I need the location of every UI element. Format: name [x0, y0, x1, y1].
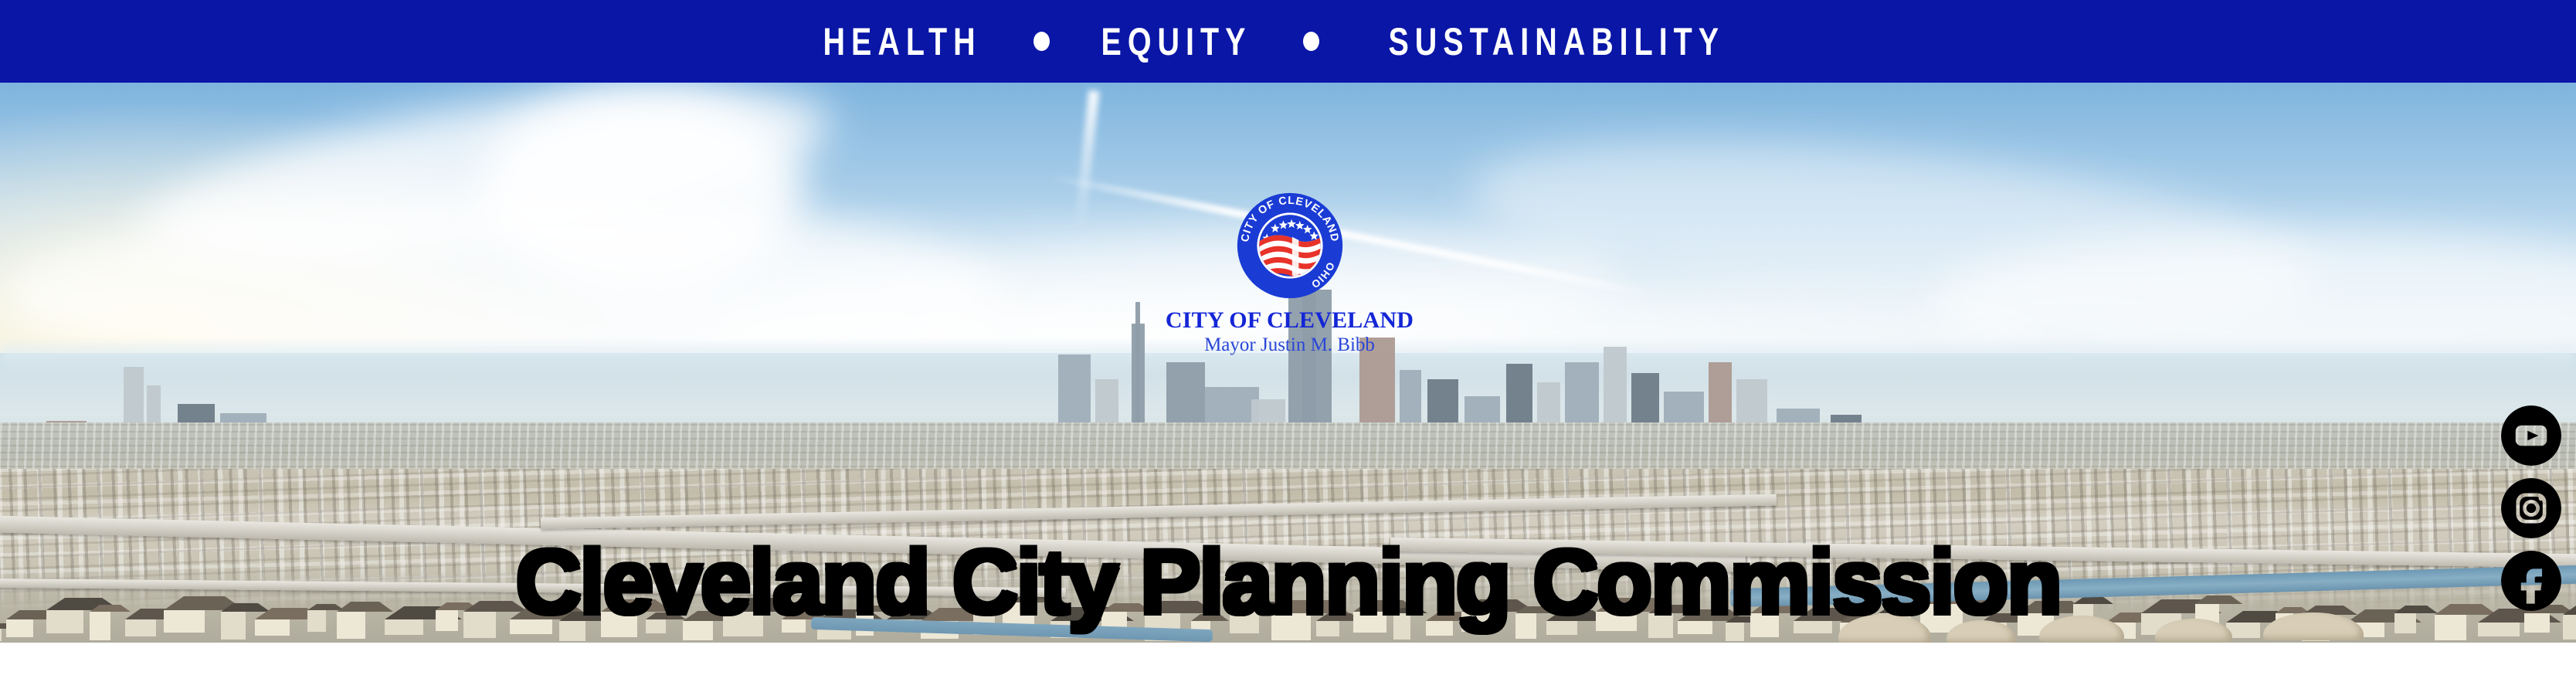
page-root: HEALTH EQUITY SUSTAINABILITY — [0, 0, 2576, 682]
city-of-cleveland-seal-icon: CITY OF CLEVELAND OHIO — [1235, 191, 1345, 300]
hero-banner-photo: CITY OF CLEVELAND OHIO — [0, 83, 2576, 643]
tagline-word-equity: EQUITY — [1101, 22, 1252, 61]
tagline-banner: HEALTH EQUITY SUSTAINABILITY — [0, 0, 2576, 83]
facebook-icon[interactable] — [2501, 551, 2561, 611]
social-links — [2501, 405, 2561, 623]
youtube-icon[interactable] — [2501, 405, 2561, 466]
tagline-word-health: HEALTH — [823, 22, 982, 61]
tagline-inner: HEALTH EQUITY SUSTAINABILITY — [808, 23, 1757, 59]
tagline-word-sustainability: SUSTAINABILITY — [1389, 22, 1726, 61]
logo-org-name: CITY OF CLEVELAND — [1164, 308, 1415, 333]
tagline-separator-dot-2 — [1303, 32, 1319, 51]
tagline-separator-dot-1 — [1033, 32, 1050, 51]
instagram-icon[interactable] — [2501, 478, 2561, 538]
logo-mayor-line: Mayor Justin M. Bibb — [1164, 334, 1415, 356]
city-logo-group[interactable]: CITY OF CLEVELAND OHIO — [1164, 191, 1415, 355]
page-title: Cleveland City Planning Commission — [0, 537, 2576, 628]
